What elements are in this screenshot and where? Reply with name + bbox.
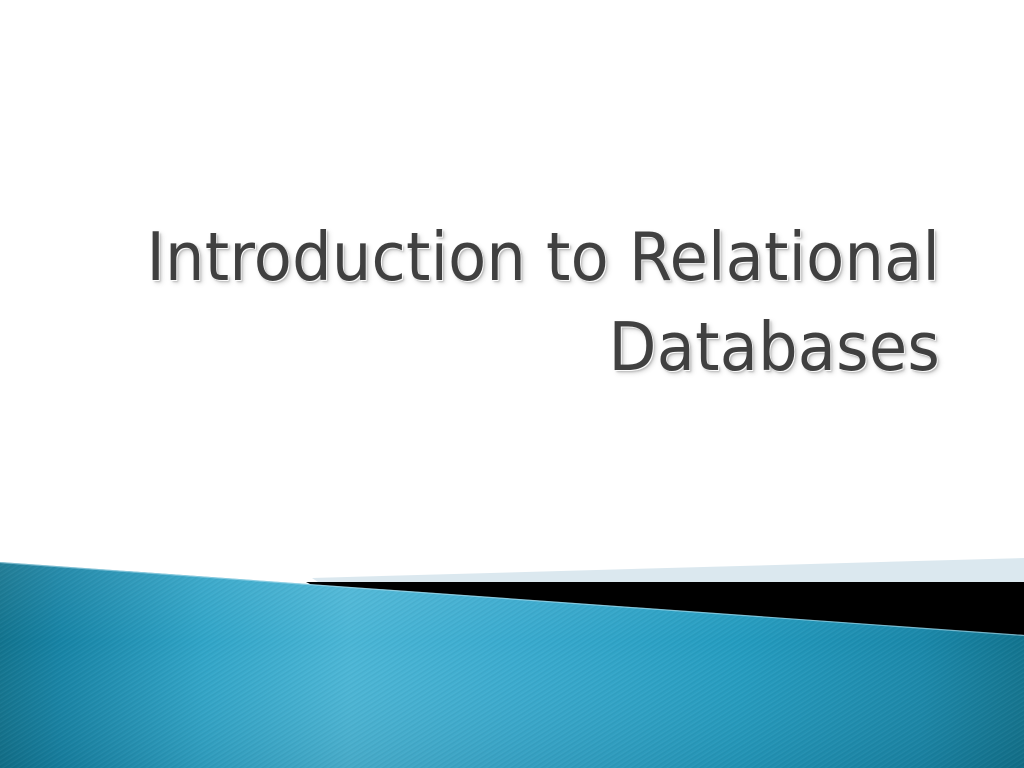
angles-banner-decoration bbox=[0, 538, 1024, 768]
black-wedge bbox=[306, 582, 1024, 635]
teal-wedge-highlight bbox=[0, 563, 1024, 636]
page-title: Introduction to Relational Databases bbox=[64, 212, 940, 392]
title-line-2: Databases bbox=[125, 302, 940, 392]
angles-banner-svg bbox=[0, 538, 1024, 768]
slide-canvas: Introduction to Relational Databases bbox=[0, 0, 1024, 768]
title-line-1: Introduction to Relational bbox=[125, 212, 940, 302]
teal-wedge bbox=[0, 538, 1024, 768]
pale-wedge bbox=[312, 558, 1024, 590]
